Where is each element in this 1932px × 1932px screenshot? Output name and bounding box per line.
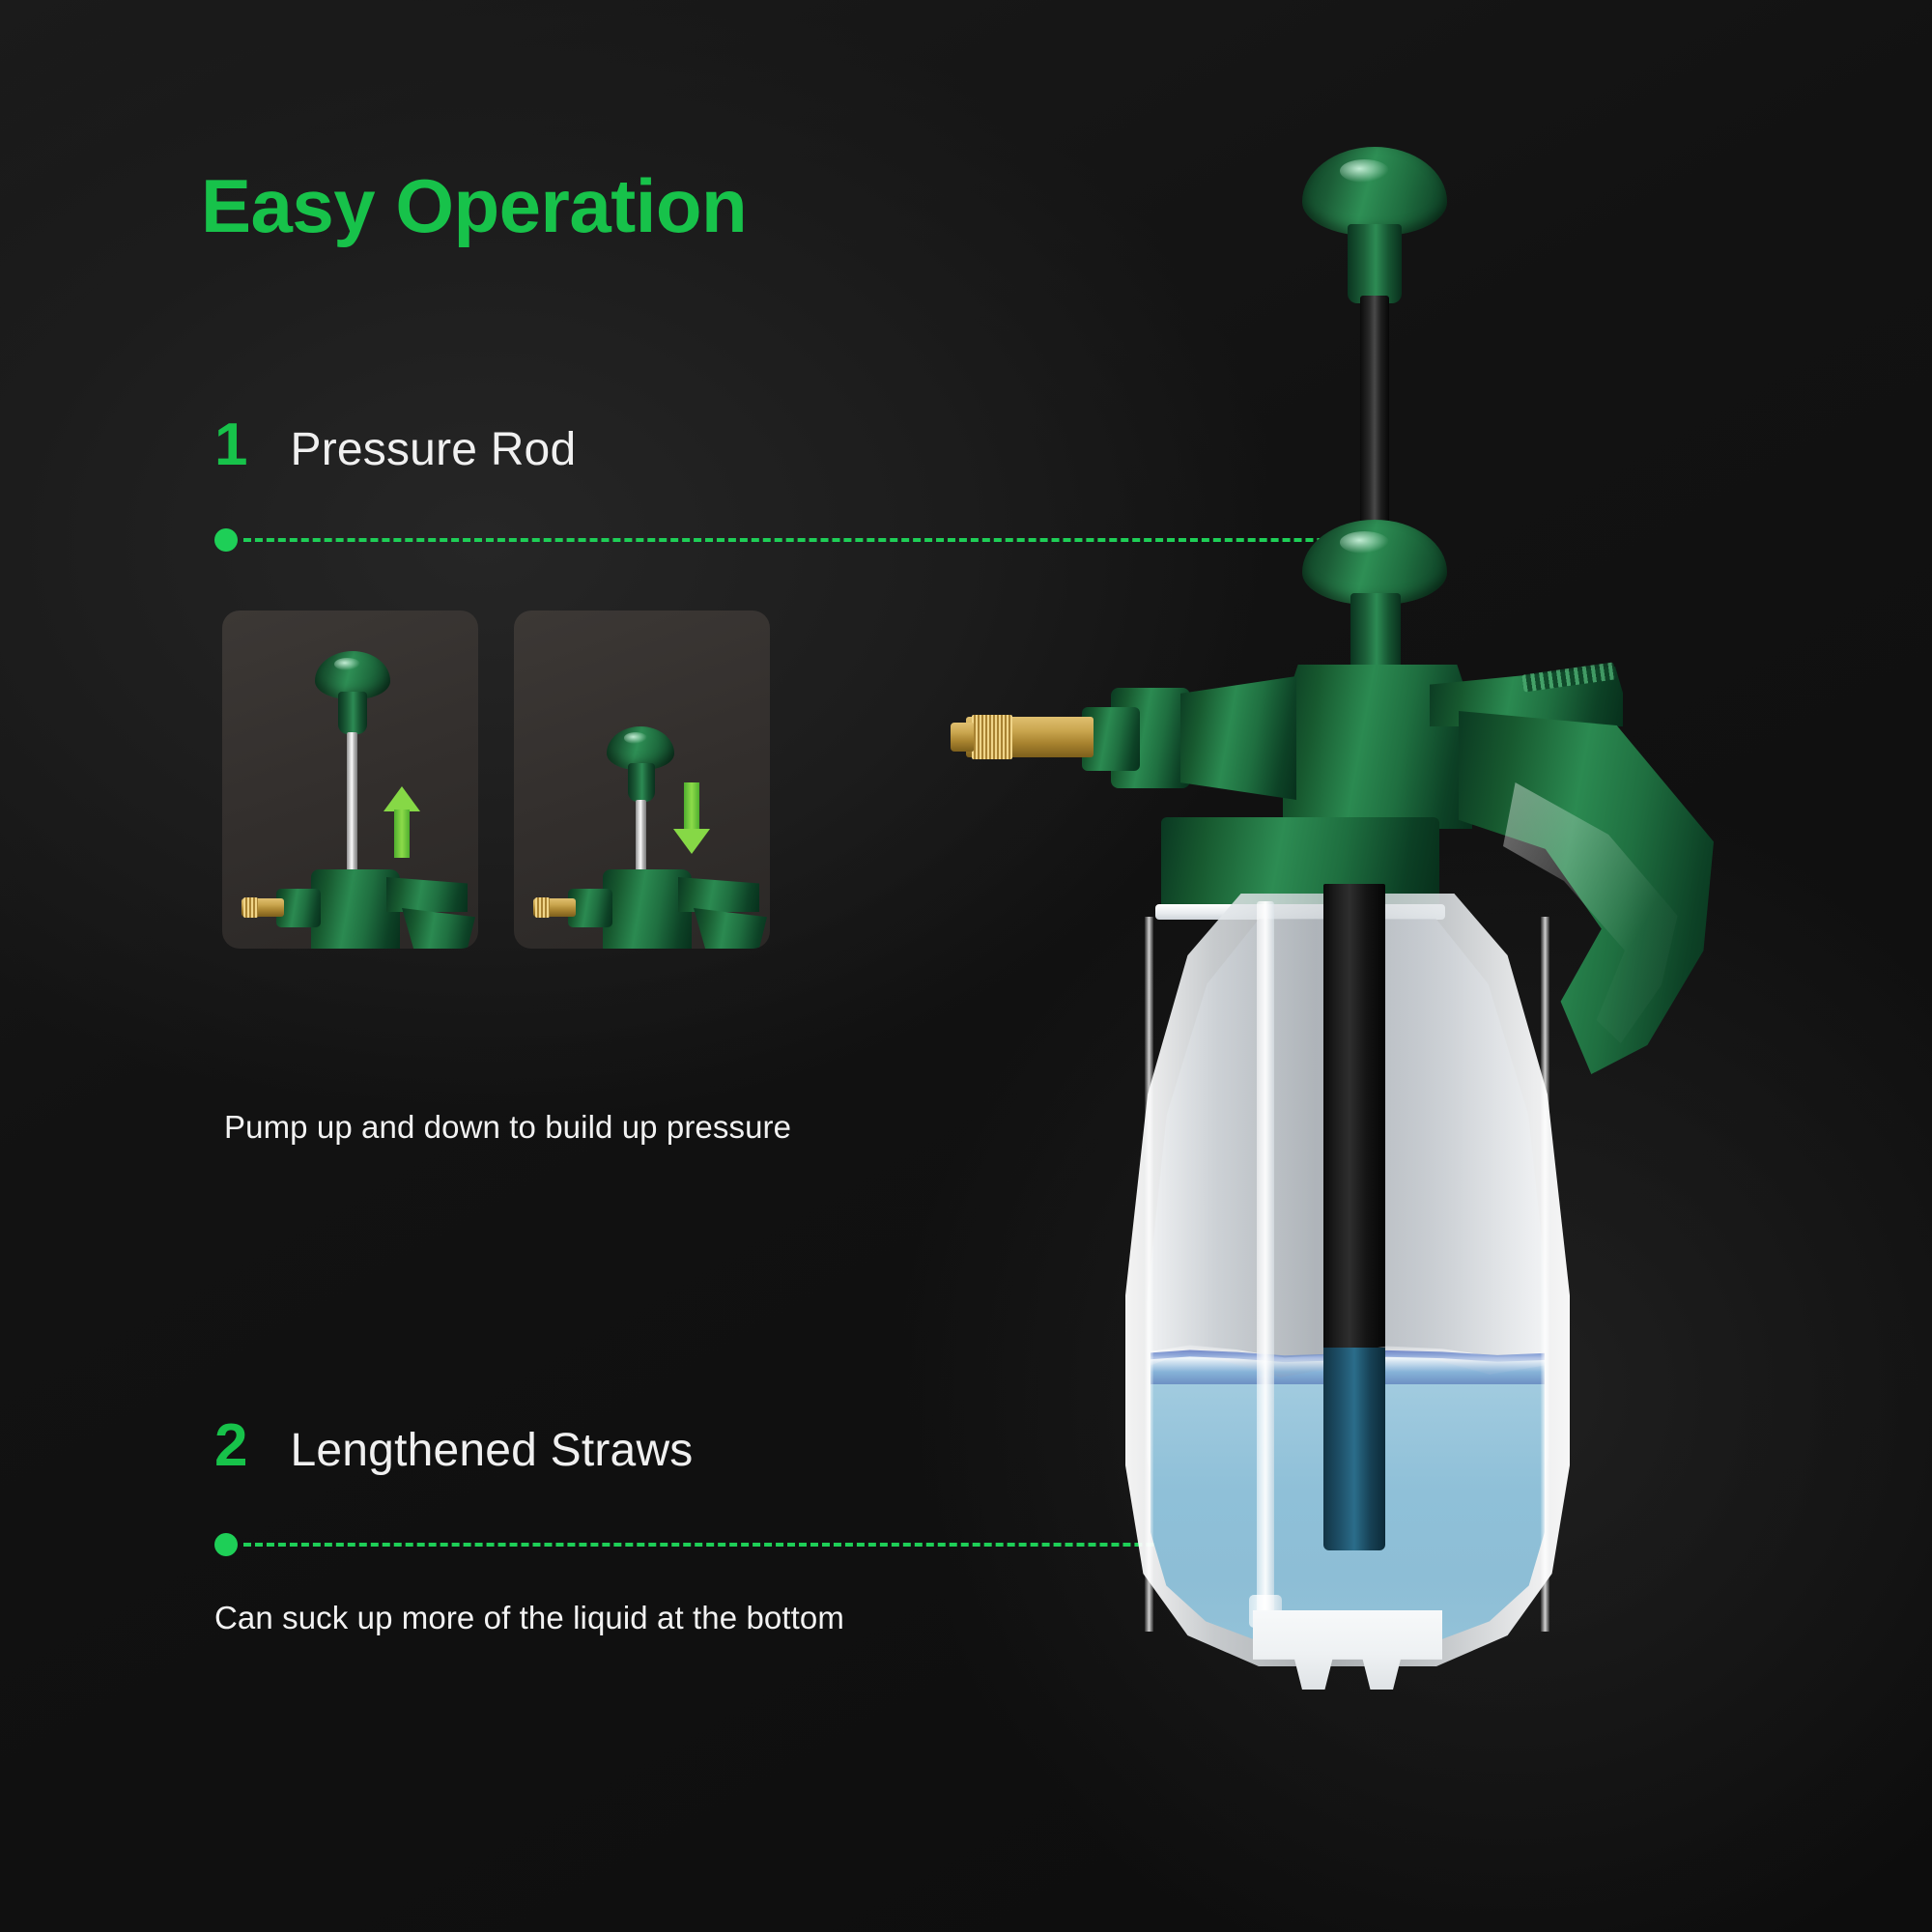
pressure-rod (1360, 296, 1389, 547)
secondary-straw (1257, 901, 1274, 1618)
bottle-base-foot (1253, 1610, 1442, 1690)
brass-nozzle-tip (951, 723, 974, 752)
pump-head-knob-icon (1302, 520, 1447, 605)
pressure-sprayer-bottle (0, 0, 1932, 1932)
bottle-right-seam (1541, 917, 1549, 1632)
pump-head-knob-neck (1350, 593, 1401, 676)
infographic-canvas: Easy Operation 1 Pressure Rod (0, 0, 1932, 1932)
straw-submerged-section (1323, 1348, 1385, 1550)
pump-knob-icon (1302, 147, 1447, 236)
bottle-left-seam (1145, 917, 1153, 1632)
nozzle-neck (1180, 676, 1296, 800)
translucent-bottle (1077, 894, 1618, 1724)
brass-nozzle-knurl (972, 715, 1012, 759)
pump-knob-neck (1348, 224, 1402, 303)
